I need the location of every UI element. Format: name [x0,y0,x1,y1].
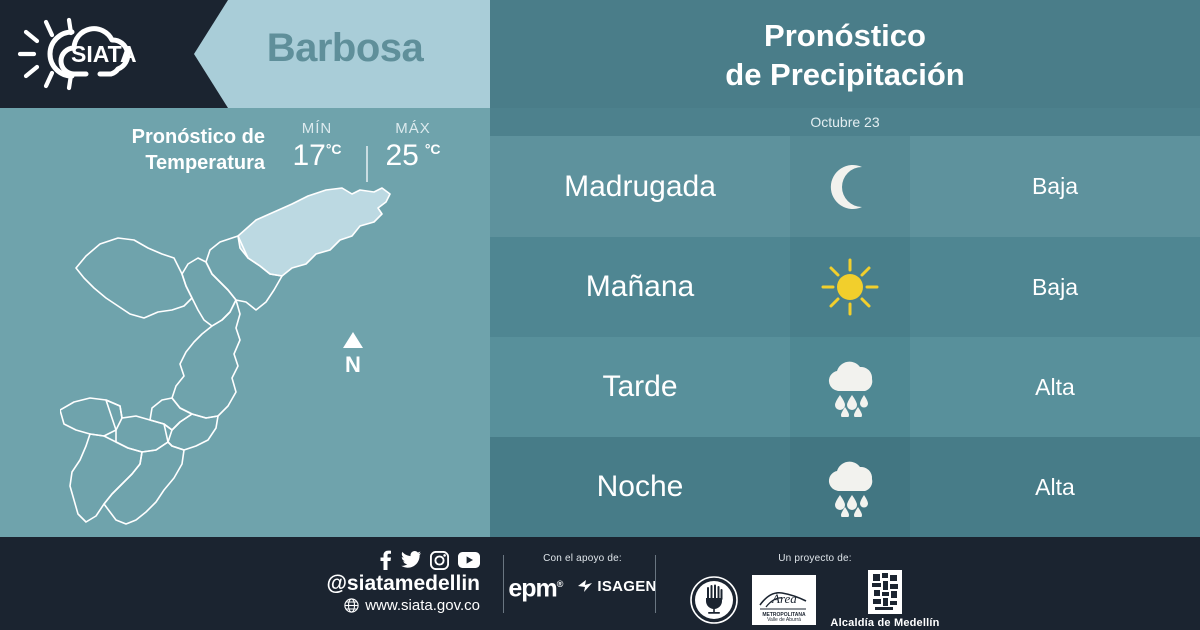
twitter-icon[interactable] [401,551,421,569]
forecast-period-cell: Noche [490,437,790,537]
forecast-icon-cell [790,437,910,537]
rain-cloud-icon [820,357,880,417]
table-row: Mañana [490,237,1200,337]
max-unit: °C [425,141,441,157]
map-region-estrella [70,434,142,522]
isagen-mark-icon [576,578,594,594]
page-title: Barbosa [200,26,490,71]
max-value: 25 [385,139,418,172]
map-region-envigado [150,398,192,430]
forecast-table: Madrugada Baja Mañana [490,136,1200,537]
social-handle[interactable]: @siatamedellin [250,572,480,596]
forecast-level-cell: Alta [910,437,1200,537]
precipitation-header: Pronóstico de Precipitación [490,0,1200,108]
area-metropolitana-logo: Área METROPOLITANA Valle de Aburrá [752,575,816,625]
support-logos: epm® ISAGEN [515,570,650,602]
social-block: @siatamedellin www.siata.gov.co [250,549,480,614]
min-unit: °C [326,141,342,157]
table-row: Madrugada Baja [490,136,1200,237]
forecast-icon-cell [790,337,910,437]
facebook-icon[interactable] [379,550,392,570]
temperature-values: MÍN 17°C MÁX 25°C [278,120,478,186]
table-row: Noche Alta [490,437,1200,537]
map-region-itagui [106,400,172,452]
support-group: Con el apoyo de: epm® ISAGEN [515,553,650,602]
forecast-level-cell: Baja [910,237,1200,337]
forecast-date: Octubre 23 [490,108,1200,136]
epm-logo: epm® [508,570,562,602]
map-svg [60,178,460,528]
min-value: 17 [292,139,325,172]
epm-label: epm [508,574,556,602]
level-label: Alta [1035,474,1075,501]
forecast-period-cell: Mañana [490,237,790,337]
isagen-label: ISAGEN [597,578,656,595]
min-value-group: 17°C [278,139,356,173]
temperature-title: Pronóstico de Temperatura [60,124,265,176]
temperature-title-line1: Pronóstico de [132,126,265,148]
level-label: Alta [1035,374,1075,401]
forecast-level-cell: Alta [910,337,1200,437]
compass-label: N [345,352,361,376]
min-temperature: MÍN 17°C [278,120,356,173]
project-group: Un proyecto de: [665,553,965,629]
alcaldia-emblem-icon [868,570,902,614]
sun-cloud-icon: SIATA [14,16,146,92]
alcaldia-logo: Alcaldía de Medellín [830,570,939,629]
max-temperature: MÁX 25°C [374,120,452,173]
right-panel: Pronóstico de Precipitación Octubre 23 M… [490,0,1200,537]
compass-north-icon: N [338,330,368,376]
project-logos: Área METROPOLITANA Valle de Aburrá [665,570,965,629]
forecast-level-cell: Baja [910,136,1200,237]
period-label: Mañana [586,270,694,304]
isagen-logo: ISAGEN [576,578,656,595]
footer-divider-1 [503,555,504,613]
rain-cloud-icon [820,457,880,517]
temperature-title-line2: Temperatura [145,152,265,174]
precipitation-title-line2: de Precipitación [725,57,964,92]
globe-icon [344,598,359,613]
siata-wordmark: SIATA [71,41,137,67]
svg-text:Área: Área [771,591,797,606]
table-row: Tarde Alta [490,337,1200,437]
social-icons [250,549,480,571]
unal-seal-icon [690,576,738,624]
website-url[interactable]: www.siata.gov.co [365,597,480,614]
sun-icon [819,256,881,318]
precipitation-title-line1: Pronóstico [764,18,926,53]
forecast-icon-cell [790,237,910,337]
max-value-group: 25°C [374,139,452,173]
footer-divider-2 [655,555,656,613]
map-region-bello [76,238,192,318]
aburra-valley-map: N [60,178,460,528]
temperature-divider [366,146,368,182]
area-label-2: Valle de Aburrá [768,617,802,623]
alcaldia-label: Alcaldía de Medellín [830,617,939,629]
left-panel: SIATA Barbosa Pronóstico de Temperatura … [0,0,490,537]
map-region-barbosa [238,188,390,276]
period-label: Tarde [602,370,677,404]
forecast-period-cell: Madrugada [490,136,790,237]
period-label: Madrugada [564,170,716,204]
level-label: Baja [1032,274,1078,301]
forecast-icon-cell [790,136,910,237]
map-region-copacabana [182,258,236,326]
youtube-icon[interactable] [458,552,480,568]
min-label: MÍN [278,120,356,137]
level-label: Baja [1032,173,1078,200]
left-body: Pronóstico de Temperatura MÍN 17°C MÁX 2… [0,108,490,537]
moon-icon [822,159,878,215]
period-label: Noche [597,470,684,504]
left-header-band: SIATA Barbosa [0,0,490,108]
map-region-caldas [104,442,184,524]
support-caption: Con el apoyo de: [515,553,650,564]
footer: @siatamedellin www.siata.gov.co Con el a… [0,537,1200,630]
forecast-period-cell: Tarde [490,337,790,437]
website-row[interactable]: www.siata.gov.co [250,597,480,614]
max-label: MÁX [374,120,452,137]
map-region-medellin [172,300,240,418]
instagram-icon[interactable] [430,551,449,570]
precipitation-title: Pronóstico de Precipitación [490,16,1200,94]
project-caption: Un proyecto de: [665,553,965,564]
infographic-canvas: SIATA Barbosa Pronóstico de Temperatura … [0,0,1200,630]
